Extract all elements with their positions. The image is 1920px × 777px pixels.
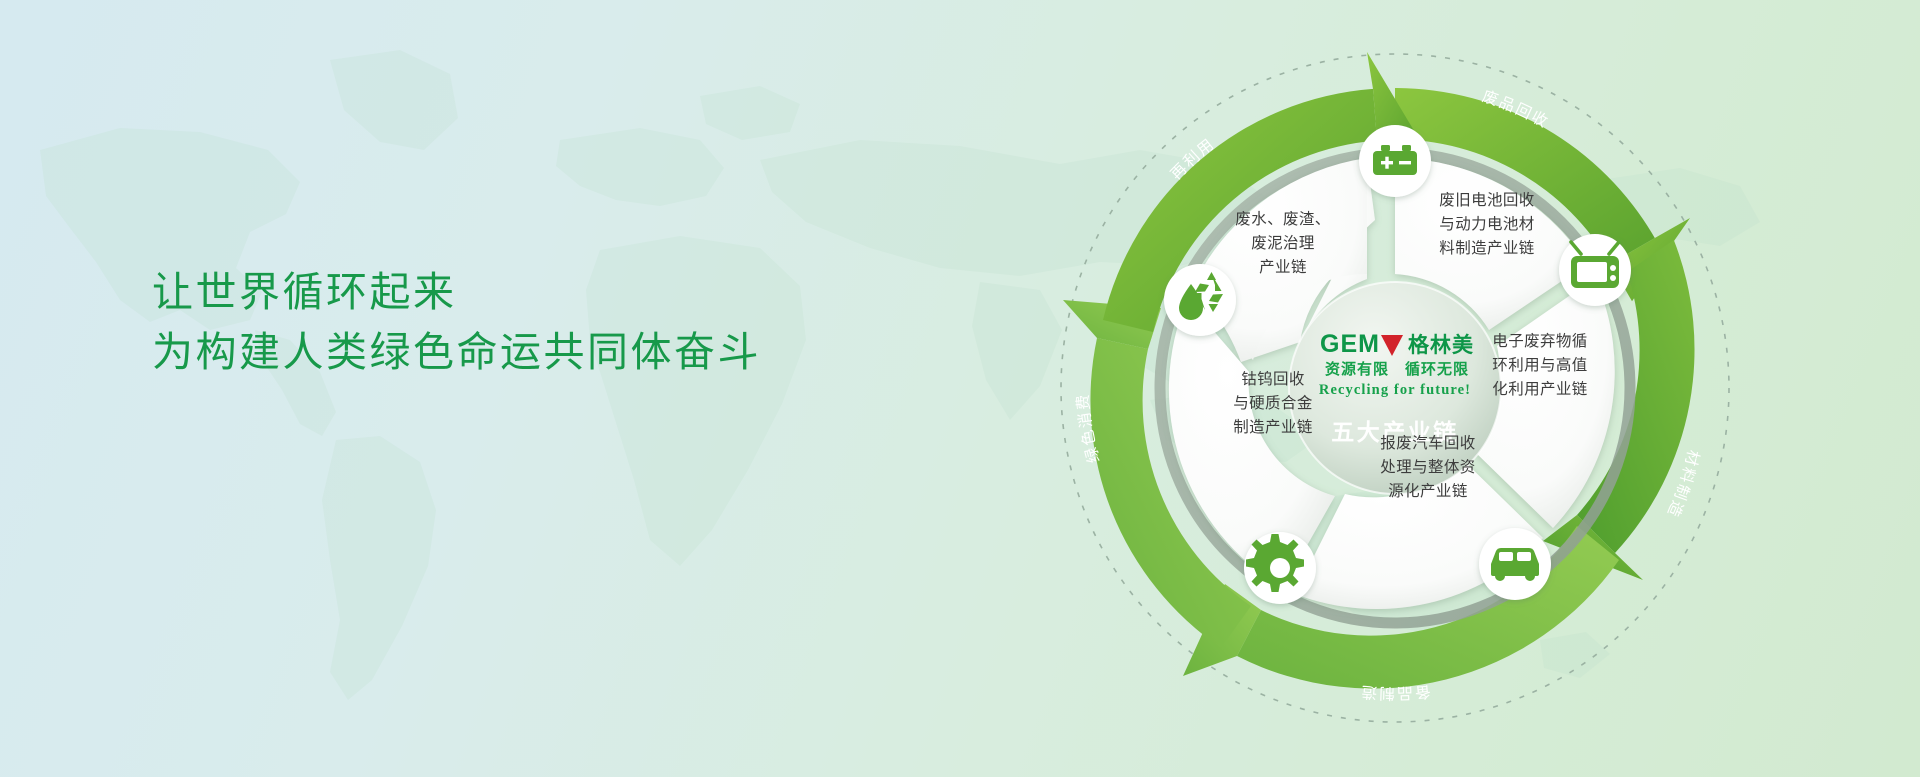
segment-vehicle-label: 报废汽车回收 处理与整体资 源化产业链 xyxy=(1380,434,1475,500)
gem-slogan-cn-left: 资源有限 xyxy=(1325,360,1389,378)
svg-text:废泥治理: 废泥治理 xyxy=(1251,234,1315,252)
svg-text:废水、废渣、: 废水、废渣、 xyxy=(1235,210,1330,228)
svg-text:报废汽车回收: 报废汽车回收 xyxy=(1380,434,1475,452)
svg-text:料制造产业链: 料制造产业链 xyxy=(1439,239,1535,257)
headline-line-1: 让世界循环起来 xyxy=(152,262,912,322)
svg-text:制造产业链: 制造产业链 xyxy=(1233,418,1313,436)
segment-vehicle-icon-bubble[interactable] xyxy=(1479,528,1551,600)
segment-wastewater-icon-bubble[interactable] xyxy=(1164,264,1236,336)
svg-text:化利用产业链: 化利用产业链 xyxy=(1492,380,1588,398)
gem-logo-cn: 格林美 xyxy=(1408,333,1474,357)
svg-text:产业链: 产业链 xyxy=(1259,258,1307,276)
segment-cobalt-tungsten-icon-bubble[interactable] xyxy=(1244,532,1316,604)
svg-text:废旧电池回收: 废旧电池回收 xyxy=(1439,191,1534,209)
five-industry-chains-infographic: 废品回收 材料制造 备品制造 xyxy=(1015,8,1775,768)
segment-ewaste-icon-bubble[interactable] xyxy=(1559,234,1631,306)
segment-cobalt-tungsten-label: 钴钨回收 与硬质合金 制造产业链 xyxy=(1233,370,1313,436)
gem-logo-latin: GEM xyxy=(1320,330,1380,358)
svg-text:处理与整体资: 处理与整体资 xyxy=(1380,458,1475,476)
svg-text:电子废弃物循: 电子废弃物循 xyxy=(1492,332,1587,350)
segment-battery-icon-bubble[interactable] xyxy=(1359,125,1431,197)
gem-slogan-en: Recycling for future! xyxy=(1319,382,1471,398)
segment-ewaste-label: 电子废弃物循 环利用与高值 化利用产业链 xyxy=(1492,332,1588,398)
hero-banner: 让世界循环起来 为构建人类绿色命运共同体奋斗 xyxy=(0,0,1920,777)
arc-equipment-manufacturing-label: 备品制造 xyxy=(1359,682,1431,702)
svg-text:源化产业链: 源化产业链 xyxy=(1388,482,1468,500)
headline-line-2: 为构建人类绿色命运共同体奋斗 xyxy=(152,322,912,382)
svg-text:钴钨回收: 钴钨回收 xyxy=(1241,370,1305,388)
svg-text:与硬质合金: 与硬质合金 xyxy=(1233,394,1313,412)
gear-icon xyxy=(1246,534,1304,592)
svg-text:环利用与高值: 环利用与高值 xyxy=(1492,356,1587,374)
headline: 让世界循环起来 为构建人类绿色命运共同体奋斗 xyxy=(152,262,912,382)
gem-slogan-cn-right: 循环无限 xyxy=(1405,360,1469,378)
svg-text:与动力电池材: 与动力电池材 xyxy=(1439,215,1534,233)
segment-battery-label: 废旧电池回收 与动力电池材 料制造产业链 xyxy=(1439,191,1535,257)
